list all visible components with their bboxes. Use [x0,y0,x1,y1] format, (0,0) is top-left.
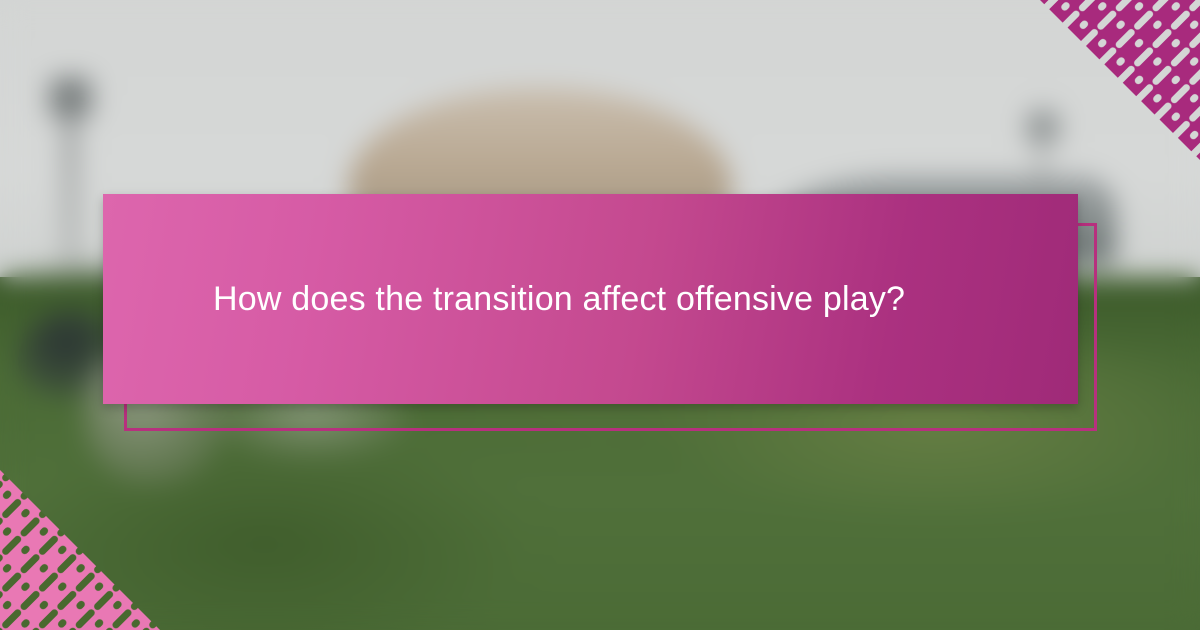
headline-banner: How does the transition affect offensive… [103,194,1078,404]
corner-pattern-top-right [1040,0,1200,160]
page-title: How does the transition affect offensive… [213,278,905,321]
share-card-canvas: How does the transition affect offensive… [0,0,1200,630]
corner-pattern-bottom-left [0,470,160,630]
